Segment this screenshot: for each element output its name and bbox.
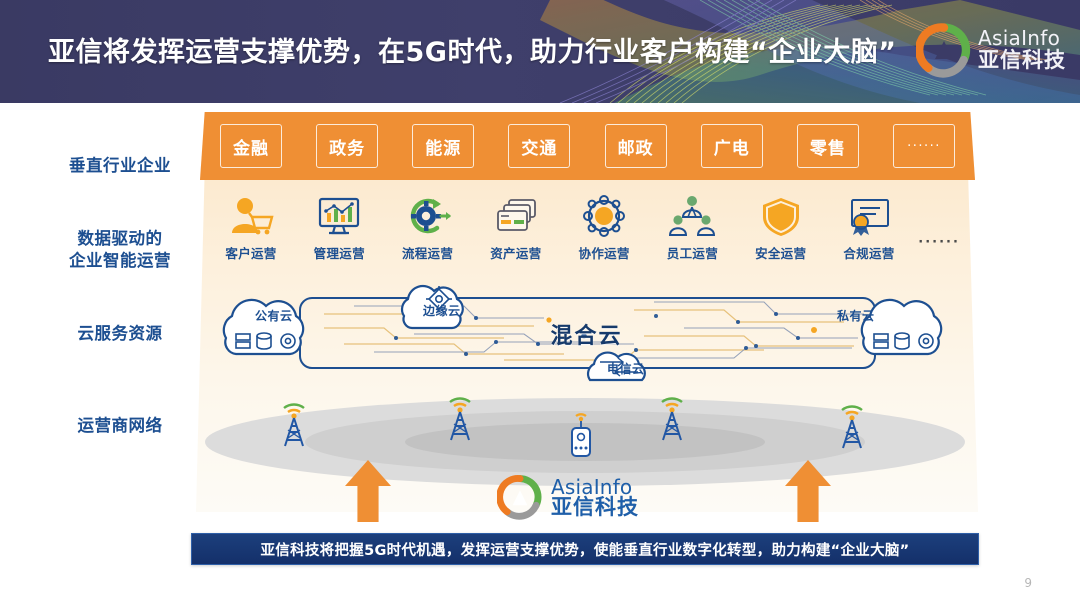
- industry-chip-more[interactable]: ······: [893, 124, 955, 168]
- certificate-icon: [846, 192, 892, 240]
- page-number: 9: [1024, 576, 1032, 590]
- industry-chip[interactable]: 能源: [412, 124, 474, 168]
- operation-label: 资产运营: [490, 243, 541, 262]
- operation-item-asset[interactable]: 资产运营: [477, 192, 555, 262]
- industry-chip[interactable]: 金融: [220, 124, 282, 168]
- industry-chip[interactable]: 交通: [508, 124, 570, 168]
- operation-label: 客户运营: [225, 243, 276, 262]
- operation-item-employee[interactable]: 员工运营: [653, 192, 731, 262]
- asiainfo-ring-icon: [916, 22, 972, 78]
- header-logo-cn: 亚信科技: [978, 49, 1066, 71]
- hybrid-cloud-label: 混合云: [550, 318, 622, 350]
- page-title: 亚信将发挥运营支撑优势，在5G时代，助力行业客户构建“企业大脑”: [48, 30, 896, 69]
- slide-header: 亚信将发挥运营支撑优势，在5G时代，助力行业客户构建“企业大脑” AsiaInf…: [0, 0, 1080, 103]
- cloud-tag-edge: 边缘云: [423, 302, 461, 319]
- operation-item-compliance[interactable]: 合规运营: [830, 192, 908, 262]
- center-logo: AsiaInfo 亚信科技: [497, 474, 639, 520]
- bottom-banner-text: 亚信科技将把握5G时代机遇，发挥运营支撑优势，使能垂直行业数字化转型，助力构建“…: [260, 539, 909, 560]
- operation-label: 流程运营: [402, 243, 453, 262]
- industry-chip[interactable]: 零售: [797, 124, 859, 168]
- cloud-tag-public: 公有云: [255, 307, 293, 324]
- stacked-cards-icon: [493, 192, 539, 240]
- layer-label-line1: 数据驱动的: [40, 228, 200, 250]
- industry-chip[interactable]: 政务: [316, 124, 378, 168]
- architecture-diagram: 金融 政务 能源 交通 邮政 广电 零售 ······ 客户运营: [190, 112, 980, 512]
- shield-icon: [758, 192, 804, 240]
- gear-arrow-icon: [405, 192, 451, 240]
- industry-chip[interactable]: 广电: [701, 124, 763, 168]
- header-logo: AsiaInfo 亚信科技: [916, 22, 1066, 78]
- antenna-tower-icon: [284, 404, 304, 446]
- operation-item-process[interactable]: 流程运营: [389, 192, 467, 262]
- cloud-tag-telco: 电信云: [607, 360, 645, 377]
- layer-label-operator-network: 运营商网络: [40, 415, 200, 437]
- operation-item-management[interactable]: 管理运营: [300, 192, 378, 262]
- operations-row: 客户运营 管理运营: [212, 192, 960, 270]
- antenna-tower-icon: [842, 406, 862, 448]
- monitor-chart-icon: [316, 192, 362, 240]
- operation-item-collaboration[interactable]: 协作运营: [565, 192, 643, 262]
- center-logo-cn: 亚信科技: [551, 497, 639, 518]
- header-logo-en: AsiaInfo: [978, 28, 1066, 49]
- layer-label-vertical-industry: 垂直行业企业: [40, 155, 200, 177]
- layer-label-data-driven-operations: 数据驱动的 企业智能运营: [40, 228, 200, 273]
- operation-item-security[interactable]: 安全运营: [742, 192, 820, 262]
- cloud-tag-private: 私有云: [837, 307, 875, 324]
- operation-label: 员工运营: [667, 243, 718, 262]
- people-group-icon: [669, 192, 715, 240]
- cloud-layer: 混合云 公有云 边缘云 电信云 私有云: [204, 280, 969, 385]
- layer-label-line2: 企业智能运营: [40, 250, 200, 272]
- antenna-tower-icon: [450, 398, 470, 440]
- bottom-banner: 亚信科技将把握5G时代机遇，发挥运营支撑优势，使能垂直行业数字化转型，助力构建“…: [191, 533, 979, 565]
- collaboration-ring-icon: [581, 192, 627, 240]
- center-logo-en: AsiaInfo: [551, 477, 639, 497]
- antenna-tower-icon: [662, 398, 682, 440]
- operation-item-customer[interactable]: 客户运营: [212, 192, 290, 262]
- operation-label: 管理运营: [314, 243, 365, 262]
- operation-label: 安全运营: [755, 243, 806, 262]
- operations-more-dots: ······: [918, 235, 960, 250]
- layer-label-cloud-resources: 云服务资源: [40, 323, 200, 345]
- asiainfo-ring-icon: [497, 474, 543, 520]
- customer-cart-icon: [228, 192, 274, 240]
- mobile-device-icon: [572, 414, 590, 456]
- industry-band: 金融 政务 能源 交通 邮政 广电 零售 ······: [200, 112, 975, 180]
- operation-label: 协作运营: [579, 243, 630, 262]
- operation-label: 合规运营: [843, 243, 894, 262]
- industry-chip[interactable]: 邮政: [605, 124, 667, 168]
